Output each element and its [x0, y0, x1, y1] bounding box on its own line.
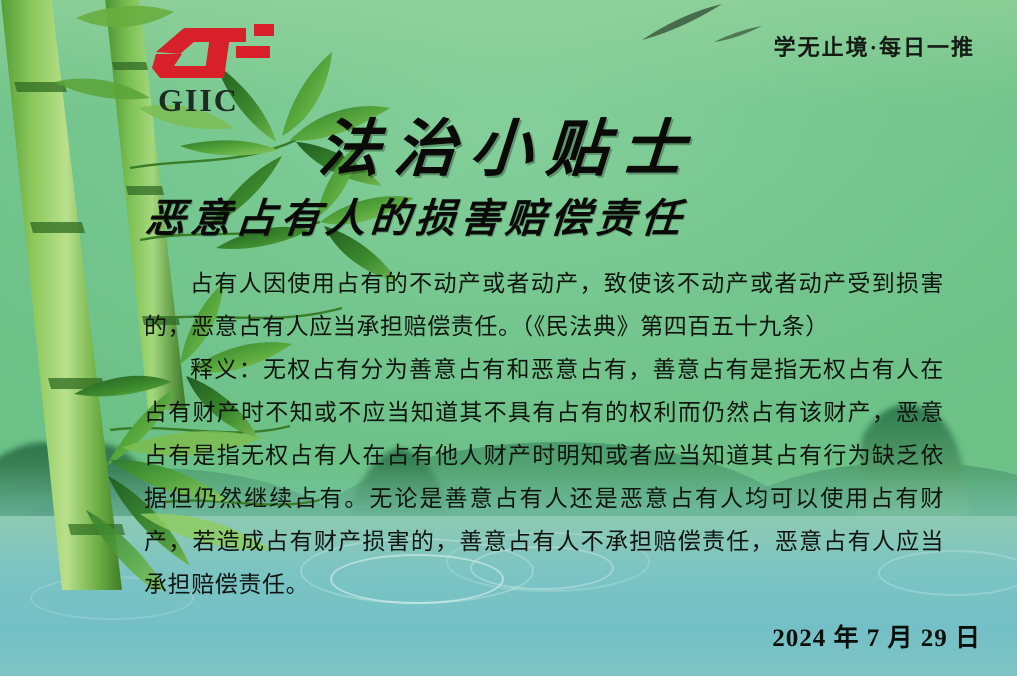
- date-stamp: 2024 年 7 月 29 日: [772, 618, 981, 654]
- page-title: 法治小贴士: [0, 98, 1017, 188]
- tagline: 学无止境·每日一推: [774, 30, 975, 62]
- flying-bird-icon-small: [712, 24, 764, 46]
- paragraph-1: 占有人因使用占有的不动产或者动产，致使该不动产或者动产受到损害的，恶意占有人应当…: [144, 262, 944, 348]
- body-text: 占有人因使用占有的不动产或者动产，致使该不动产或者动产受到损害的，恶意占有人应当…: [144, 262, 944, 606]
- page-subtitle: 恶意占有人的损害赔偿责任: [143, 186, 688, 244]
- giic-logo-icon: [150, 22, 276, 82]
- legal-tip-poster: 学无止境·每日一推 GIIC 法治小贴士 恶意占有人的损害赔偿责任 占有人因使用…: [0, 0, 1017, 676]
- paragraph-2: 释义：无权占有分为善意占有和恶意占有，善意占有是指无权占有人在占有财产时不知或不…: [144, 348, 944, 606]
